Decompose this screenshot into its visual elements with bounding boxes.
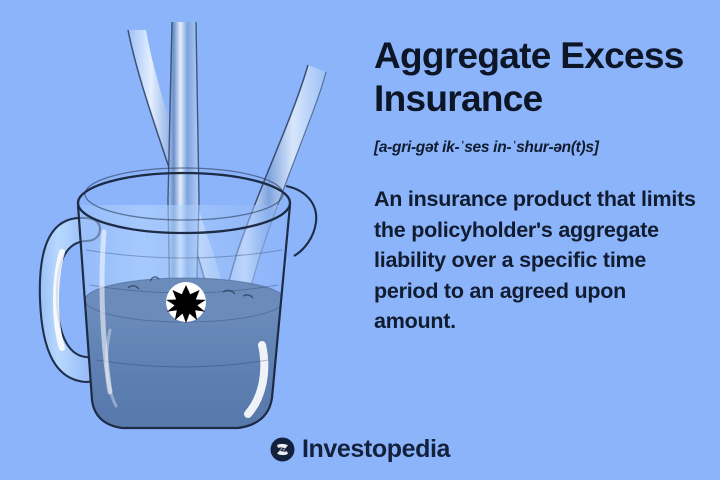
- investopedia-logo: Investopedia: [0, 435, 720, 464]
- definition-card: Aggregate Excess Insurance [a-gri-gət ik…: [0, 0, 720, 480]
- page-title: Aggregate Excess Insurance: [374, 34, 696, 120]
- definition-text: An insurance product that limits the pol…: [374, 184, 696, 337]
- pitcher-spout: [286, 186, 316, 256]
- brand-name: Investopedia: [302, 435, 450, 464]
- title-line-1: Aggregate Excess: [374, 35, 684, 76]
- investopedia-circle-mark: [270, 437, 295, 462]
- term-text-column: Aggregate Excess Insurance [a-gri-gət ik…: [374, 34, 696, 337]
- title-line-2: Insurance: [374, 78, 543, 119]
- pronunciation: [a-gri-gət ik-ˈses in-ˈshur-ən(t)s]: [374, 138, 696, 158]
- pitcher-illustration: [0, 0, 370, 440]
